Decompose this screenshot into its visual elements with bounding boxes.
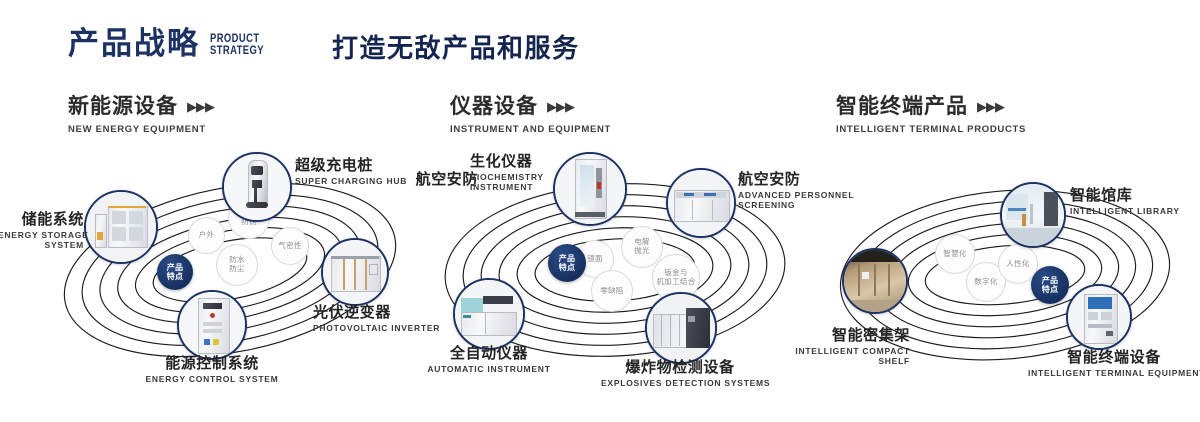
poster-subtitle: 打造无敌产品和服务: [332, 35, 580, 61]
node-label-cn: 智能密集架: [768, 328, 910, 344]
poster-title-en-line1: PRODUCT: [210, 34, 264, 46]
node-label-automatic-instrument: 全自动仪器 AUTOMATIC INSTRUMENT: [415, 346, 563, 374]
node-label-cn: 能源控制系统: [128, 356, 296, 372]
node-label-en: AUTOMATIC INSTRUMENT: [415, 364, 563, 375]
node-label-biochemistry-instrument: 生化仪器 BIOCHEMISTRY INSTRUMENT: [470, 154, 578, 193]
compact-shelf-photo: [844, 250, 906, 312]
automatic-instrument-photo: [455, 280, 523, 348]
screening-machine-photo: [668, 170, 734, 236]
section-heading-cn: 智能终端产品 ▶▶▶: [836, 96, 1026, 117]
node-super-charging-hub[interactable]: [222, 152, 292, 222]
node-explosives-detection-systems[interactable]: [645, 292, 717, 364]
node-intelligent-library[interactable]: [1000, 182, 1066, 248]
poster-title-en-line2: STRATEGY: [210, 46, 264, 58]
section-heading-text: 新能源设备: [68, 96, 178, 117]
poster-canvas: 产品战略 PRODUCT STRATEGY 打造无敌产品和服务 新能源设备 ▶▶…: [0, 0, 1200, 422]
node-intelligent-compact-shelf[interactable]: [842, 248, 908, 314]
badge-line2: 特点: [559, 263, 576, 272]
chevron-right-icon: ▶▶▶: [187, 100, 214, 113]
feature-bubble-line2: 抛光: [634, 246, 650, 255]
node-label-intelligent-compact-shelf: 智能密集架 INTELLIGENT COMPACT SHELF: [768, 328, 910, 367]
node-photovoltaic-inverter[interactable]: [321, 238, 389, 306]
section-heading-cn: 仪器设备 ▶▶▶: [450, 96, 611, 117]
section-heading-en: INTELLIGENT TERMINAL PRODUCTS: [836, 124, 1026, 135]
feature-bubble: 气密性: [271, 227, 309, 265]
pv-inverter-photo: [323, 240, 387, 304]
feature-bubble-line1: 零缺陷: [600, 286, 623, 295]
node-label-intelligent-library: 智能馆库 INTELLIGENT LIBRARY: [1070, 188, 1200, 216]
section-heading-text: 仪器设备: [450, 96, 538, 117]
feature-bubble-line1: 智慧化: [943, 249, 966, 258]
feature-bubble-line1: 电解: [634, 237, 650, 246]
node-advanced-personnel-screening[interactable]: [666, 168, 736, 238]
energy-storage-cabinet-photo: [86, 192, 156, 262]
node-label-en: ENERGY CONTROL SYSTEM: [128, 374, 296, 385]
feature-bubble-line2: 机加工结合: [657, 277, 696, 286]
chevron-right-icon: ▶▶▶: [547, 100, 574, 113]
product-feature-badge: 产品特点: [157, 254, 193, 290]
feature-bubble-line1: 户外: [199, 230, 215, 239]
node-label-en: INTELLIGENT TERMINAL EQUIPMENT: [1028, 368, 1200, 379]
badge-line1: 产品: [1042, 276, 1059, 285]
section-heading-instrument: 仪器设备 ▶▶▶ INSTRUMENT AND EQUIPMENT: [450, 96, 611, 135]
node-label-en: INTELLIGENT COMPACT SHELF: [768, 346, 910, 367]
node-energy-storage-system[interactable]: [84, 190, 158, 264]
node-energy-control-system[interactable]: [177, 290, 247, 360]
terminal-kiosk-photo: [1068, 286, 1130, 348]
node-label-cn: 生化仪器: [470, 154, 578, 170]
badge-line1: 产品: [167, 263, 184, 272]
feature-bubble-line2: 防尘: [229, 264, 245, 273]
product-feature-badge: 产品特点: [548, 244, 586, 282]
node-label-cn: 智能终端设备: [1028, 350, 1200, 366]
feature-bubble: 零缺陷: [591, 270, 633, 312]
node-label-energy-control-system: 能源控制系统 ENERGY CONTROL SYSTEM: [128, 356, 296, 384]
feature-bubble: 户外: [188, 217, 225, 254]
node-label-aviation-security: 航空安防: [398, 172, 478, 188]
orbit-diagram-new-energy: 户外 防腐防锈 防水防尘 气密性 产品特点: [40, 150, 420, 400]
section-heading-text: 智能终端产品: [836, 96, 968, 117]
node-label-en: BIOCHEMISTRY INSTRUMENT: [470, 172, 578, 193]
feature-bubble-line1: 镜面: [587, 254, 603, 263]
node-label-cn: 储能系统: [0, 212, 84, 228]
explosives-detector-photo: [647, 294, 715, 362]
chevron-right-icon: ▶▶▶: [977, 100, 1004, 113]
feature-bubble: 防水防尘: [216, 244, 258, 286]
section-heading-new-energy: 新能源设备 ▶▶▶ NEW ENERGY EQUIPMENT: [68, 96, 214, 135]
section-heading-intelligent-terminal: 智能终端产品 ▶▶▶ INTELLIGENT TERMINAL PRODUCTS: [836, 96, 1026, 135]
section-heading-en: INSTRUMENT AND EQUIPMENT: [450, 124, 611, 135]
feature-bubble-line1: 防水: [229, 255, 245, 264]
badge-line1: 产品: [559, 254, 576, 263]
poster-title-cn: 产品战略: [68, 28, 200, 59]
node-intelligent-terminal-equipment[interactable]: [1066, 284, 1132, 350]
product-feature-badge: 产品特点: [1031, 266, 1069, 304]
library-interior-photo: [1002, 184, 1064, 246]
poster-title-en: PRODUCT STRATEGY: [210, 34, 264, 57]
node-label-energy-storage-system: 储能系统 ENERGY STORAGE SYSTEM: [0, 212, 84, 251]
badge-line2: 特点: [1042, 285, 1059, 294]
badge-line2: 特点: [167, 272, 184, 281]
section-heading-cn: 新能源设备 ▶▶▶: [68, 96, 214, 117]
node-automatic-instrument[interactable]: [453, 278, 525, 350]
node-label-cn: 智能馆库: [1070, 188, 1200, 204]
control-cabinet-photo: [179, 292, 245, 358]
node-label-explosives-detection-systems: 爆炸物检测设备 EXPLOSIVES DETECTION SYSTEMS: [601, 360, 759, 388]
feature-bubble-line1: 钣金与: [664, 268, 687, 277]
section-heading-en: NEW ENERGY EQUIPMENT: [68, 124, 214, 135]
poster-header: 产品战略 PRODUCT STRATEGY: [68, 28, 276, 59]
node-label-intelligent-terminal-equipment: 智能终端设备 INTELLIGENT TERMINAL EQUIPMENT: [1028, 350, 1200, 378]
node-label-en: EXPLOSIVES DETECTION SYSTEMS: [601, 378, 759, 389]
node-label-cn: 航空安防: [398, 172, 478, 188]
node-label-en: ENERGY STORAGE SYSTEM: [0, 230, 84, 251]
orbit-diagram-instrument: 镜面 电解抛光 零缺陷 钣金与机加工结合 产品特点 航空安防: [420, 150, 810, 400]
charging-pile-photo: [224, 154, 290, 220]
node-label-cn: 全自动仪器: [415, 346, 563, 362]
feature-bubble: 智慧化: [935, 234, 975, 274]
feature-bubble-line1: 人性化: [1006, 259, 1029, 268]
orbit-diagram-intelligent-terminal: 智慧化 数字化 人性化 产品特点 智能馆库 INTELLIGENT LIB: [820, 150, 1200, 400]
feature-bubble-line1: 数字化: [974, 277, 997, 286]
node-label-en: INTELLIGENT LIBRARY: [1070, 206, 1200, 217]
feature-bubble-line1: 气密性: [278, 241, 301, 250]
node-label-cn: 爆炸物检测设备: [601, 360, 759, 376]
